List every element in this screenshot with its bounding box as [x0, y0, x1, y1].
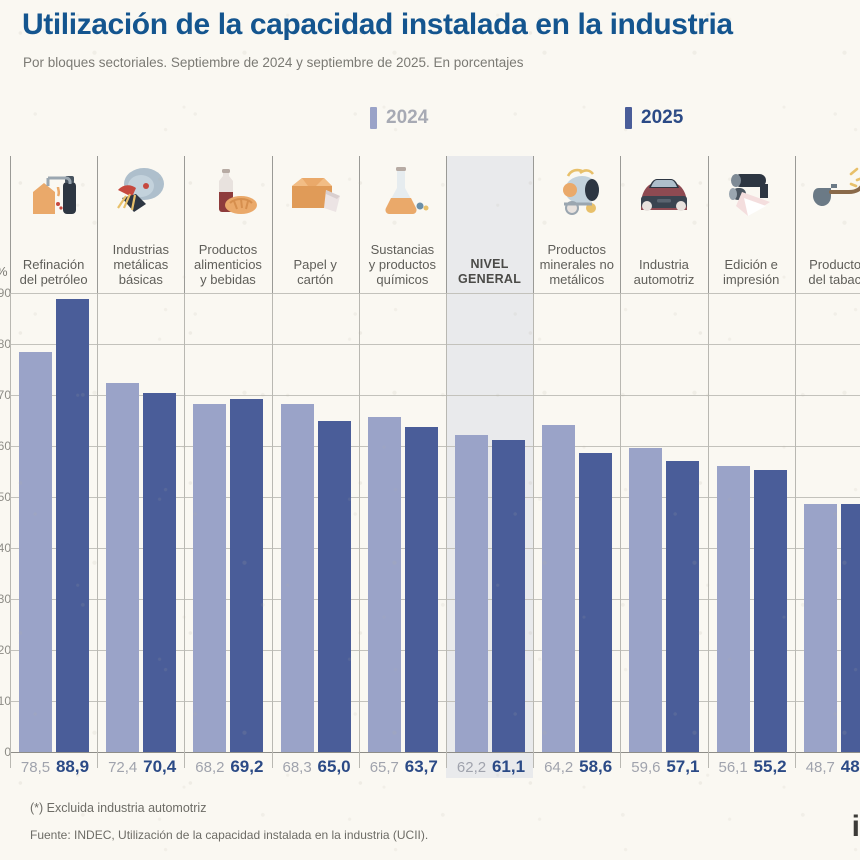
value-label-2025-9: 55,2 — [754, 752, 787, 782]
column-separator — [795, 156, 796, 293]
bar-2025-6[interactable] — [492, 440, 525, 752]
bar-2024-9[interactable] — [717, 466, 750, 752]
bar-2024-1[interactable] — [19, 352, 52, 752]
bar-2024-2[interactable] — [106, 383, 139, 752]
value-label-2024-4: 68,3 — [281, 752, 314, 782]
category-header-9[interactable]: Edición eimpresión — [708, 156, 795, 293]
column-separator — [708, 293, 709, 768]
paper-box-icon — [272, 160, 359, 226]
value-label-2025-6: 61,1 — [492, 752, 525, 782]
category-label: Sustanciasy productosquímicos — [361, 242, 444, 287]
column-separator — [795, 293, 796, 768]
bar-2024-3[interactable] — [193, 404, 226, 752]
chart-subtitle: Por bloques sectoriales. Septiembre de 2… — [23, 55, 524, 70]
value-label-2025-3: 69,2 — [230, 752, 263, 782]
chemical-flask-icon — [359, 160, 446, 226]
category-label: Refinacióndel petróleo — [12, 257, 95, 287]
legend-item-2025: 2025 — [625, 107, 683, 129]
legend-label-2025: 2025 — [641, 107, 683, 129]
cement-mixer-icon — [533, 160, 620, 226]
category-label: Industriaautomotriz — [622, 257, 705, 287]
value-label-2024-9: 56,1 — [717, 752, 750, 782]
footnote: (*) Excluida industria automotriz — [30, 801, 206, 815]
food-beverage-icon — [184, 160, 271, 226]
bar-2025-5[interactable] — [405, 427, 438, 752]
legend-swatch-2024 — [370, 107, 377, 129]
category-label: Edición eimpresión — [710, 257, 793, 287]
column-separator — [446, 156, 447, 293]
column-separator — [272, 293, 273, 768]
value-label-2024-3: 68,2 — [193, 752, 226, 782]
column-separator — [708, 156, 709, 293]
value-label-2024-1: 78,5 — [19, 752, 52, 782]
category-label: NIVELGENERAL — [448, 257, 531, 287]
category-label: Productosdel tabaco — [797, 257, 860, 287]
printing-press-icon — [708, 160, 795, 226]
category-header-5[interactable]: Sustanciasy productosquímicos — [359, 156, 446, 293]
value-label-2024-7: 64,2 — [542, 752, 575, 782]
value-label-2024-8: 59,6 — [629, 752, 662, 782]
column-separator — [184, 156, 185, 293]
category-header-3[interactable]: Productosalimenticiosy bebidas — [184, 156, 271, 293]
car-icon — [620, 160, 707, 226]
bar-2024-7[interactable] — [542, 425, 575, 752]
no-icon — [446, 160, 533, 226]
column-separator — [97, 293, 98, 768]
bar-2024-6[interactable] — [455, 435, 488, 752]
publisher-logo: i — [852, 812, 860, 842]
column-separator — [10, 293, 11, 768]
value-label-2025-5: 63,7 — [405, 752, 438, 782]
value-label-2024-6: 62,2 — [455, 752, 488, 782]
category-header-1[interactable]: Refinacióndel petróleo — [10, 156, 97, 293]
source-note: Fuente: INDEC, Utilización de la capacid… — [30, 828, 428, 842]
legend-label-2024: 2024 — [386, 107, 428, 129]
category-header-4[interactable]: Papel ycartón — [272, 156, 359, 293]
bar-2025-9[interactable] — [754, 470, 787, 752]
chart-legend: 2024 2025 — [370, 107, 700, 137]
column-separator — [620, 156, 621, 293]
category-label: Productosminerales nometálicos — [535, 242, 618, 287]
column-separator — [359, 156, 360, 293]
column-separator — [446, 293, 447, 768]
bar-2025-10[interactable] — [841, 504, 860, 752]
gridline — [10, 293, 860, 294]
bar-2024-4[interactable] — [281, 404, 314, 752]
legend-item-2024: 2024 — [370, 107, 428, 129]
column-separator — [272, 156, 273, 293]
column-separator — [620, 293, 621, 768]
category-label: Productosalimenticiosy bebidas — [186, 242, 269, 287]
oil-refinery-icon — [10, 160, 97, 226]
legend-swatch-2025 — [625, 107, 632, 129]
category-header-8[interactable]: Industriaautomotriz — [620, 156, 707, 293]
column-separator — [533, 293, 534, 768]
category-header-6[interactable]: NIVELGENERAL — [446, 156, 533, 293]
column-separator — [10, 156, 11, 293]
bar-2025-7[interactable] — [579, 453, 612, 752]
metal-foundry-icon — [97, 160, 184, 226]
value-label-2025-4: 65,0 — [318, 752, 351, 782]
bar-2025-2[interactable] — [143, 393, 176, 752]
category-header-7[interactable]: Productosminerales nometálicos — [533, 156, 620, 293]
bar-2024-5[interactable] — [368, 417, 401, 752]
value-label-2025-1: 88,9 — [56, 752, 89, 782]
chart-plot-area: Refinacióndel petróleoIndustriasmetálica… — [0, 156, 860, 776]
column-separator — [359, 293, 360, 768]
category-header-10[interactable]: Productosdel tabaco — [795, 156, 860, 293]
bar-2025-1[interactable] — [56, 299, 89, 752]
value-label-2024-10: 48,7 — [804, 752, 837, 782]
category-label: Industriasmetálicasbásicas — [99, 242, 182, 287]
category-label: Papel ycartón — [274, 257, 357, 287]
bar-2025-4[interactable] — [318, 421, 351, 753]
bar-2024-8[interactable] — [629, 448, 662, 752]
column-separator — [533, 156, 534, 293]
column-separator — [184, 293, 185, 768]
category-header-2[interactable]: Industriasmetálicasbásicas — [97, 156, 184, 293]
value-label-2025-8: 57,1 — [666, 752, 699, 782]
tobacco-pipe-icon — [795, 160, 860, 226]
value-label-2025-10: 48,7 — [841, 752, 860, 782]
value-label-2025-7: 58,6 — [579, 752, 612, 782]
value-label-2025-2: 70,4 — [143, 752, 176, 782]
column-separator — [97, 156, 98, 293]
bar-2025-3[interactable] — [230, 399, 263, 752]
bar-2024-10[interactable] — [804, 504, 837, 752]
page-title: Utilización de la capacidad instalada en… — [22, 8, 733, 42]
value-label-row: 78,588,972,470,468,269,268,365,065,763,7… — [0, 752, 860, 786]
gridline — [10, 344, 860, 345]
value-label-2024-5: 65,7 — [368, 752, 401, 782]
bar-2025-8[interactable] — [666, 461, 699, 752]
value-label-2024-2: 72,4 — [106, 752, 139, 782]
